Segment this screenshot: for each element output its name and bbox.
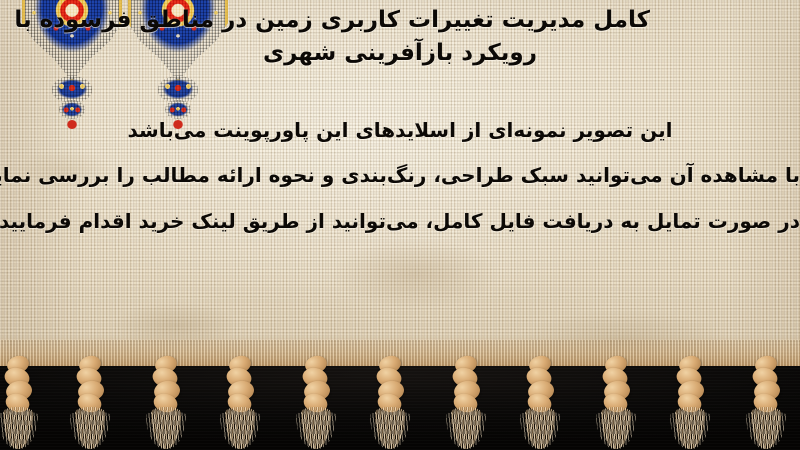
text-overlay: کامل مدیریت تغییرات کاربری زمین در مناطق… [0, 0, 800, 370]
body-line-1: این تصویر نمونه‌ای از اسلایدهای این پاور… [0, 108, 800, 153]
slide-body: این تصویر نمونه‌ای از اسلایدهای این پاور… [0, 108, 800, 244]
title-line-2: رویکرد بازآفرینی شهری [30, 37, 770, 70]
body-line-2: با مشاهده آن می‌توانید سبک طراحی، رنگ‌بن… [0, 153, 800, 198]
slide-canvas: کامل مدیریت تغییرات کاربری زمین در مناطق… [0, 0, 800, 450]
body-line-3: در صورت تمایل به دریافت فایل کامل، می‌تو… [0, 199, 800, 244]
title-line-1: کامل مدیریت تغییرات کاربری زمین در مناطق… [30, 4, 770, 37]
slide-title: کامل مدیریت تغییرات کاربری زمین در مناطق… [0, 4, 800, 69]
